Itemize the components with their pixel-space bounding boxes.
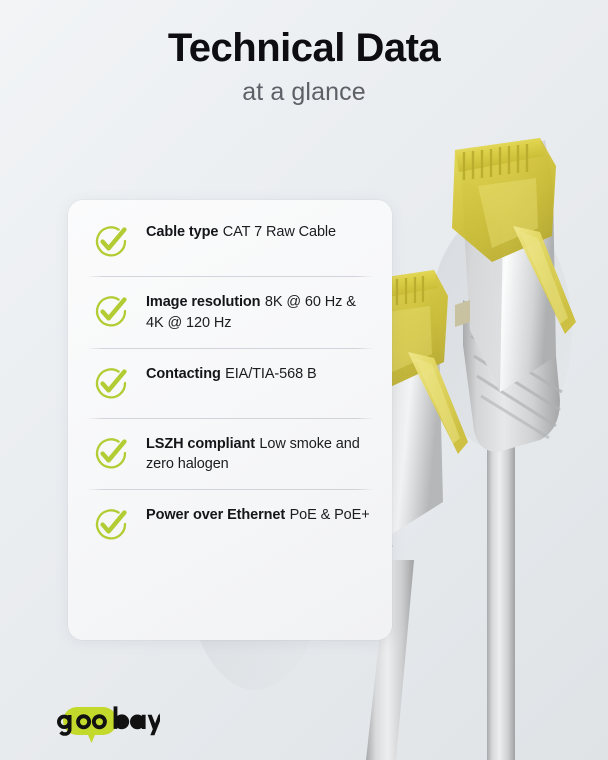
check-circle-icon xyxy=(90,221,132,261)
spec-title: LSZH compliant xyxy=(146,436,255,452)
spec-title: Image resolution xyxy=(146,294,260,310)
spec-value: CAT 7 Raw Cable xyxy=(223,224,336,240)
check-circle-icon xyxy=(90,363,132,403)
spec-title: Contacting xyxy=(146,366,221,382)
list-item: LSZH compliant Low smoke and zero haloge… xyxy=(84,418,376,490)
page-header: Technical Data at a glance xyxy=(0,0,608,107)
spec-value: PoE & PoE+ xyxy=(290,507,370,523)
list-item: Cable type CAT 7 Raw Cable xyxy=(84,206,376,276)
page-title: Technical Data xyxy=(0,26,608,71)
spec-text: Contacting EIA/TIA-568 B xyxy=(132,363,317,385)
goobay-wordmark-icon: R xyxy=(50,703,160,743)
goobay-logo: R xyxy=(50,703,160,743)
spec-text: Power over Ethernet PoE & PoE+ xyxy=(132,504,370,526)
list-item: Contacting EIA/TIA-568 B xyxy=(84,348,376,418)
list-item: Power over Ethernet PoE & PoE+ xyxy=(84,489,376,559)
spec-title: Cable type xyxy=(146,224,218,240)
spec-text: LSZH compliant Low smoke and zero haloge… xyxy=(132,433,360,475)
technical-data-infographic: Technical Data at a glance Cable type CA… xyxy=(0,0,608,760)
spec-text: Image resolution 8K @ 60 Hz & 4K @ 120 H… xyxy=(132,291,376,333)
page-subtitle: at a glance xyxy=(0,78,608,107)
check-circle-icon xyxy=(90,504,132,544)
spec-value: EIA/TIA-568 B xyxy=(225,366,316,382)
list-item: Image resolution 8K @ 60 Hz & 4K @ 120 H… xyxy=(84,276,376,348)
check-circle-icon xyxy=(90,433,132,473)
spec-card: Cable type CAT 7 Raw Cable Image resolut… xyxy=(68,200,392,640)
rj45-connector-back xyxy=(428,138,576,760)
spec-list: Cable type CAT 7 Raw Cable Image resolut… xyxy=(68,206,392,559)
check-circle-icon xyxy=(90,291,132,331)
spec-text: Cable type CAT 7 Raw Cable xyxy=(132,221,336,243)
spec-title: Power over Ethernet xyxy=(146,507,285,523)
